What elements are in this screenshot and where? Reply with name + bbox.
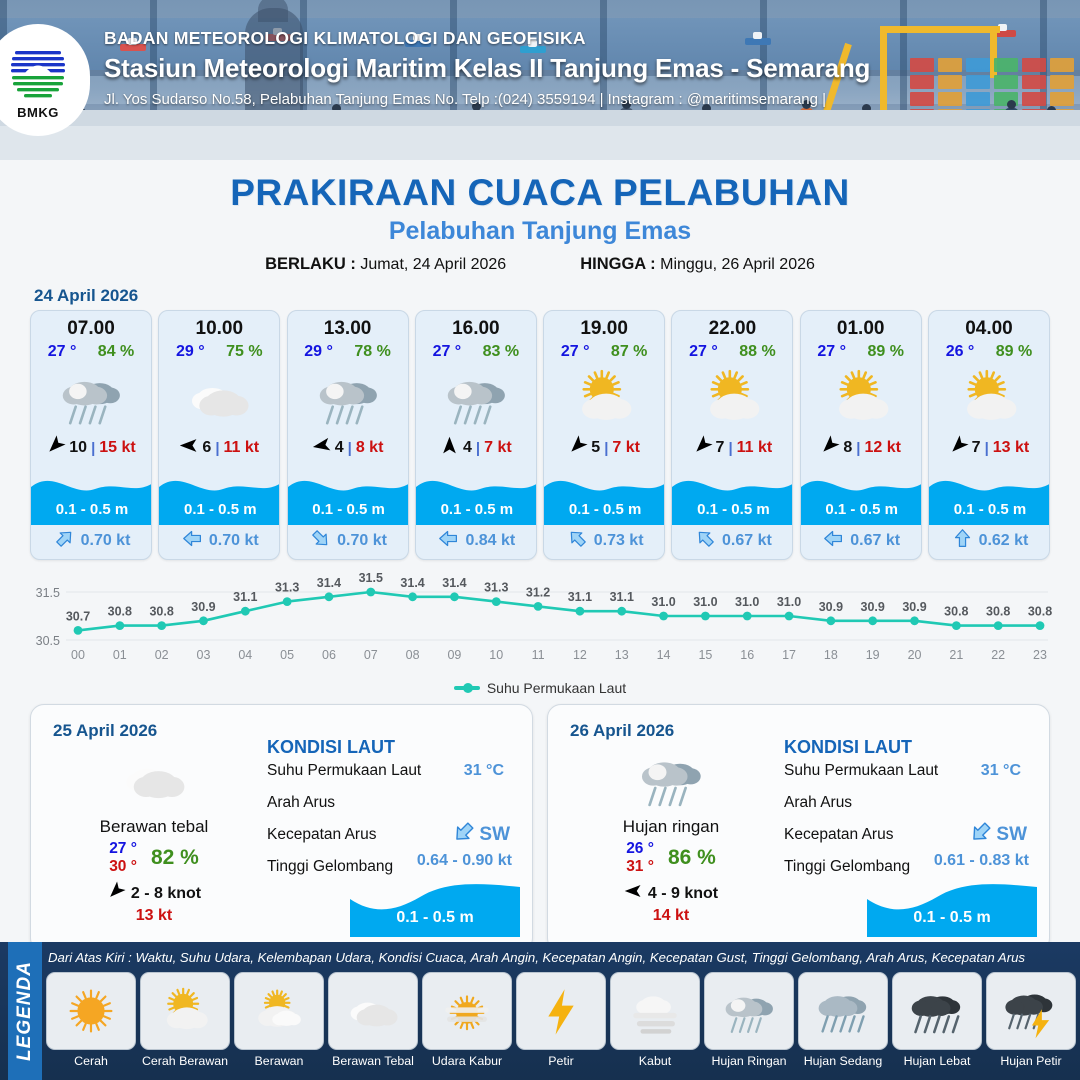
summary-wind-arrow-icon <box>107 882 125 905</box>
svg-text:20: 20 <box>908 648 922 662</box>
card-weather-icon <box>31 362 151 434</box>
svg-text:14: 14 <box>657 648 671 662</box>
card-current-speed: 0.70 kt <box>209 532 259 550</box>
card-wave-height: 0.1 - 0.5 m <box>159 501 280 518</box>
terminal-floor-back <box>0 110 1080 126</box>
card-weather-icon <box>929 362 1049 434</box>
card-wind-speed: 4 <box>463 439 472 457</box>
legend-icon-berawan-tebal <box>328 972 418 1050</box>
svg-text:15: 15 <box>698 648 712 662</box>
card-wave-band: 0.1 - 0.5 m <box>544 471 665 525</box>
legend-item: Hujan Petir <box>986 972 1076 1068</box>
forecast-card: 19.00 27 ° 87 % 5 | 7 kt 0.1 - 0.5 m 0.7… <box>543 310 665 560</box>
card-separator: | <box>348 440 352 457</box>
svg-text:31.3: 31.3 <box>484 581 508 595</box>
legend-item-label: Udara Kabur <box>432 1054 502 1068</box>
summary-temp-max: 31 ° <box>626 858 654 876</box>
hourly-forecast-row: 07.00 27 ° 84 % 10 | 15 kt 0.1 - 0.5 m 0… <box>0 310 1080 560</box>
svg-text:30.8: 30.8 <box>108 605 132 619</box>
svg-text:31.4: 31.4 <box>317 576 341 590</box>
summary-humidity: 82 % <box>151 846 199 870</box>
legend-item: Berawan <box>234 972 324 1068</box>
legend-item-label: Hujan Petir <box>1000 1054 1061 1068</box>
card-current-speed: 0.70 kt <box>81 532 131 550</box>
card-wind-speed: 6 <box>202 439 211 457</box>
card-time: 07.00 <box>31 318 151 340</box>
station-name: Stasiun Meteorologi Maritim Kelas II Tan… <box>104 53 1064 84</box>
svg-text:30.8: 30.8 <box>149 605 173 619</box>
svg-text:31.1: 31.1 <box>610 590 634 604</box>
current-direction-arrow-icon <box>695 528 716 554</box>
svg-text:00: 00 <box>71 648 85 662</box>
card-humidity: 84 % <box>98 343 134 361</box>
current-direction-arrow-icon <box>310 528 331 554</box>
card-gust: 11 kt <box>224 439 260 457</box>
card-humidity: 87 % <box>611 343 647 361</box>
legend-item: Berawan Tebal <box>328 972 418 1068</box>
wind-direction-arrow-icon <box>949 436 968 460</box>
card-separator: | <box>856 440 860 457</box>
summary-date: 26 April 2026 <box>570 721 674 741</box>
card-wave-band: 0.1 - 0.5 m <box>801 471 922 525</box>
forecast-card: 22.00 27 ° 88 % 7 | 11 kt 0.1 - 0.5 m 0.… <box>671 310 793 560</box>
valid-until-value: Minggu, 26 April 2026 <box>660 256 815 273</box>
legend-item-label: Petir <box>548 1054 573 1068</box>
page-title: PRAKIRAAN CUACA PELABUHAN <box>0 172 1080 214</box>
valid-from: BERLAKU : Jumat, 24 April 2026 <box>265 255 506 274</box>
svg-text:16: 16 <box>740 648 754 662</box>
svg-text:18: 18 <box>824 648 838 662</box>
card-gust: 7 kt <box>484 439 512 457</box>
svg-text:22: 22 <box>991 648 1005 662</box>
svg-text:31.5: 31.5 <box>359 571 383 585</box>
summary-humidity: 86 % <box>668 846 716 870</box>
svg-text:30.9: 30.9 <box>902 600 926 614</box>
card-humidity: 78 % <box>354 343 390 361</box>
svg-text:04: 04 <box>238 648 252 662</box>
card-wind-speed: 7 <box>972 439 981 457</box>
card-temperature: 29 ° <box>304 343 333 361</box>
legend-icon-hujan-lebat <box>892 972 982 1050</box>
legend-icon-petir <box>516 972 606 1050</box>
wind-direction-arrow-icon <box>693 436 712 460</box>
forecast-card: 07.00 27 ° 84 % 10 | 15 kt 0.1 - 0.5 m 0… <box>30 310 152 560</box>
legend-side-label: LEGENDA <box>8 942 42 1080</box>
summary-wave-height: 0.1 - 0.5 m <box>867 909 1037 927</box>
summary-wind-arrow-icon <box>624 882 642 905</box>
svg-text:30.8: 30.8 <box>1028 605 1052 619</box>
svg-text:31.4: 31.4 <box>442 576 466 590</box>
card-temperature: 27 ° <box>689 343 718 361</box>
card-time: 04.00 <box>929 318 1049 340</box>
validity-row: BERLAKU : Jumat, 24 April 2026 HINGGA : … <box>0 255 1080 274</box>
daily-summary-row: 25 April 2026 Berawan tebal 27 ° 30 ° 82… <box>0 696 1080 952</box>
page-header: BMKG BADAN METEOROLOGI KLIMATOLOGI DAN G… <box>0 0 1080 160</box>
current-direction-label: Arah Arus <box>267 794 335 811</box>
card-current-speed: 0.67 kt <box>850 532 900 550</box>
svg-text:13: 13 <box>615 648 629 662</box>
legend-item-label: Cerah <box>74 1054 108 1068</box>
card-time: 22.00 <box>672 318 792 340</box>
card-current-row: 0.73 kt <box>544 525 665 557</box>
card-gust: 12 kt <box>865 439 901 457</box>
card-gust: 8 kt <box>356 439 384 457</box>
svg-text:31.0: 31.0 <box>735 595 759 609</box>
card-time: 10.00 <box>159 318 279 340</box>
daily-summary-card: 25 April 2026 Berawan tebal 27 ° 30 ° 82… <box>30 704 533 952</box>
card-humidity: 89 % <box>996 343 1032 361</box>
summary-wave-height: 0.1 - 0.5 m <box>350 909 520 927</box>
wind-direction-arrow-icon <box>179 436 198 460</box>
svg-text:01: 01 <box>113 648 127 662</box>
summary-temp-min: 27 ° <box>109 840 137 858</box>
valid-until: HINGGA : Minggu, 26 April 2026 <box>580 255 815 274</box>
legend-icon-hujan-sedang <box>798 972 888 1050</box>
legend-icon-cerah <box>46 972 136 1050</box>
wind-direction-arrow-icon <box>312 436 331 460</box>
svg-text:31.1: 31.1 <box>233 590 257 604</box>
current-direction-arrow-icon <box>54 528 75 554</box>
card-wind-speed: 7 <box>716 439 725 457</box>
svg-text:10: 10 <box>489 648 503 662</box>
card-wave-band: 0.1 - 0.5 m <box>288 471 409 525</box>
card-weather-icon <box>672 362 792 434</box>
card-time: 01.00 <box>801 318 921 340</box>
card-gust: 13 kt <box>993 439 1029 457</box>
sst-value: 31 °C <box>464 762 504 780</box>
chart-legend: Suhu Permukaan Laut <box>0 680 1080 696</box>
card-humidity: 75 % <box>226 343 262 361</box>
svg-text:31.5: 31.5 <box>36 586 60 600</box>
summary-wind-range: 2 - 8 knot <box>131 885 201 903</box>
svg-text:03: 03 <box>197 648 211 662</box>
current-direction-arrow-icon <box>182 528 203 554</box>
terminal-floor <box>0 126 1080 160</box>
svg-text:09: 09 <box>447 648 461 662</box>
card-wave-height: 0.1 - 0.5 m <box>544 501 665 518</box>
summary-gust: 14 kt <box>562 907 780 925</box>
card-weather-icon <box>416 362 536 434</box>
svg-text:31.3: 31.3 <box>275 581 299 595</box>
card-wave-height: 0.1 - 0.5 m <box>416 501 537 518</box>
legend-icon-udara-kabur <box>422 972 512 1050</box>
card-wave-height: 0.1 - 0.5 m <box>801 501 922 518</box>
current-direction-arrow-icon <box>567 528 588 554</box>
daily-summary-card: 26 April 2026 Hujan ringan 26 ° 31 ° 86 … <box>547 704 1050 952</box>
legend-item: Hujan Sedang <box>798 972 888 1068</box>
svg-text:21: 21 <box>949 648 963 662</box>
svg-text:30.5: 30.5 <box>36 634 60 648</box>
sst-chart: 31.530.530.70030.80130.80230.90331.10431… <box>26 570 1054 682</box>
card-gust: 7 kt <box>612 439 640 457</box>
svg-text:06: 06 <box>322 648 336 662</box>
card-separator: | <box>604 440 608 457</box>
legend-item: Petir <box>516 972 606 1068</box>
card-wave-height: 0.1 - 0.5 m <box>672 501 793 518</box>
forecast-card: 13.00 29 ° 78 % 4 | 8 kt 0.1 - 0.5 m 0.7… <box>287 310 409 560</box>
card-wind-speed: 10 <box>69 439 87 457</box>
card-temperature: 29 ° <box>176 343 205 361</box>
card-time: 16.00 <box>416 318 536 340</box>
svg-text:30.8: 30.8 <box>944 605 968 619</box>
card-current-speed: 0.70 kt <box>337 532 387 550</box>
svg-text:17: 17 <box>782 648 796 662</box>
valid-until-label: HINGGA : <box>580 255 655 273</box>
svg-text:31.2: 31.2 <box>526 585 550 599</box>
card-gust: 15 kt <box>99 439 135 457</box>
summary-condition: Berawan tebal <box>45 817 263 837</box>
card-current-speed: 0.73 kt <box>594 532 644 550</box>
legend-side-text: LEGENDA <box>14 961 36 1061</box>
card-separator: | <box>91 440 95 457</box>
card-current-row: 0.70 kt <box>31 525 152 557</box>
card-humidity: 89 % <box>867 343 903 361</box>
legend-item: Hujan Lebat <box>892 972 982 1068</box>
sea-condition-title: KONDISI LAUT <box>267 737 518 758</box>
card-separator: | <box>476 440 480 457</box>
card-current-speed: 0.84 kt <box>465 532 515 550</box>
card-current-speed: 0.67 kt <box>722 532 772 550</box>
summary-weather-icon <box>562 747 780 811</box>
legend-note: Dari Atas Kiri : Waktu, Suhu Udara, Kele… <box>48 950 1074 965</box>
summary-weather-icon <box>45 747 263 811</box>
card-current-row: 0.70 kt <box>288 525 409 557</box>
legend-icon-berawan <box>234 972 324 1050</box>
bmkg-logo-mark <box>7 41 69 103</box>
summary-wind-range: 4 - 9 knot <box>648 885 718 903</box>
card-current-row: 0.70 kt <box>159 525 280 557</box>
svg-text:30.9: 30.9 <box>819 600 843 614</box>
forecast-card: 10.00 29 ° 75 % 6 | 11 kt 0.1 - 0.5 m 0.… <box>158 310 280 560</box>
legend-item: Cerah <box>46 972 136 1068</box>
chart-legend-marker <box>454 686 480 690</box>
summary-wave-graphic: 0.1 - 0.5 m <box>867 881 1037 937</box>
wind-direction-arrow-icon <box>46 436 65 460</box>
legend-section: LEGENDA Dari Atas Kiri : Waktu, Suhu Uda… <box>0 942 1080 1080</box>
card-wave-band: 0.1 - 0.5 m <box>929 471 1050 525</box>
card-separator: | <box>985 440 989 457</box>
card-temperature: 27 ° <box>817 343 846 361</box>
card-wind-speed: 8 <box>843 439 852 457</box>
legend-item: Udara Kabur <box>422 972 512 1068</box>
card-separator: | <box>728 440 732 457</box>
card-weather-icon <box>159 362 279 434</box>
summary-condition: Hujan ringan <box>562 817 780 837</box>
svg-text:12: 12 <box>573 648 587 662</box>
current-direction-arrow-icon <box>823 528 844 554</box>
card-wave-height: 0.1 - 0.5 m <box>929 501 1050 518</box>
legend-item: Kabut <box>610 972 700 1068</box>
card-wave-band: 0.1 - 0.5 m <box>416 471 537 525</box>
svg-text:05: 05 <box>280 648 294 662</box>
card-humidity: 83 % <box>483 343 519 361</box>
card-temperature: 27 ° <box>561 343 590 361</box>
legend-item-label: Berawan Tebal <box>332 1054 414 1068</box>
card-time: 19.00 <box>544 318 664 340</box>
current-direction-arrow-icon <box>952 528 973 554</box>
wave-height-label: Tinggi Gelombang <box>267 858 393 875</box>
card-current-row: 0.67 kt <box>672 525 793 557</box>
card-weather-icon <box>288 362 408 434</box>
svg-text:11: 11 <box>532 648 545 662</box>
current-direction-label: Arah Arus <box>784 794 852 811</box>
sea-condition-title: KONDISI LAUT <box>784 737 1035 758</box>
card-current-row: 0.62 kt <box>929 525 1050 557</box>
forecast-card: 16.00 27 ° 83 % 4 | 7 kt 0.1 - 0.5 m 0.8… <box>415 310 537 560</box>
forecast-card: 04.00 26 ° 89 % 7 | 13 kt 0.1 - 0.5 m 0.… <box>928 310 1050 560</box>
agency-name: BADAN METEOROLOGI KLIMATOLOGI DAN GEOFIS… <box>104 28 1064 49</box>
summary-date: 25 April 2026 <box>53 721 157 741</box>
chart-legend-label: Suhu Permukaan Laut <box>487 680 626 696</box>
card-gust: 11 kt <box>737 439 773 457</box>
card-temperature: 26 ° <box>946 343 975 361</box>
svg-text:31.1: 31.1 <box>568 590 592 604</box>
svg-text:31.4: 31.4 <box>400 576 424 590</box>
card-temperature: 27 ° <box>48 343 77 361</box>
card-separator: | <box>215 440 219 457</box>
card-wind-speed: 5 <box>591 439 600 457</box>
svg-text:30.9: 30.9 <box>191 600 215 614</box>
sst-label: Suhu Permukaan Laut <box>267 762 421 779</box>
current-speed-label: Kecepatan Arus <box>267 826 376 843</box>
card-humidity: 88 % <box>739 343 775 361</box>
card-wave-band: 0.1 - 0.5 m <box>672 471 793 525</box>
card-current-row: 0.84 kt <box>416 525 537 557</box>
svg-text:30.7: 30.7 <box>66 609 90 623</box>
wind-direction-arrow-icon <box>440 436 459 460</box>
legend-item-label: Hujan Sedang <box>804 1054 883 1068</box>
svg-text:19: 19 <box>866 648 880 662</box>
current-direction-arrow-icon <box>438 528 459 554</box>
summary-wave-graphic: 0.1 - 0.5 m <box>350 881 520 937</box>
legend-icon-hujan-petir <box>986 972 1076 1050</box>
svg-text:31.0: 31.0 <box>693 595 717 609</box>
legend-item-label: Hujan Lebat <box>904 1054 971 1068</box>
card-wave-height: 0.1 - 0.5 m <box>31 501 152 518</box>
svg-text:30.8: 30.8 <box>986 605 1010 619</box>
card-wave-height: 0.1 - 0.5 m <box>288 501 409 518</box>
svg-text:08: 08 <box>406 648 420 662</box>
svg-text:30.9: 30.9 <box>861 600 885 614</box>
legend-item-label: Berawan <box>255 1054 304 1068</box>
sst-label: Suhu Permukaan Laut <box>784 762 938 779</box>
card-current-row: 0.67 kt <box>801 525 922 557</box>
summary-temp-max: 30 ° <box>109 858 137 876</box>
wind-direction-arrow-icon <box>568 436 587 460</box>
legend-item: Cerah Berawan <box>140 972 230 1068</box>
legend-icon-kabut <box>610 972 700 1050</box>
sst-value: 31 °C <box>981 762 1021 780</box>
card-current-speed: 0.62 kt <box>979 532 1029 550</box>
bmkg-logo-text: BMKG <box>17 105 59 120</box>
card-wave-band: 0.1 - 0.5 m <box>159 471 280 525</box>
svg-text:31.0: 31.0 <box>651 595 675 609</box>
current-speed-label: Kecepatan Arus <box>784 826 893 843</box>
card-wind-speed: 4 <box>335 439 344 457</box>
wind-direction-arrow-icon <box>820 436 839 460</box>
legend-items: Cerah Cerah Berawan Berawan Berawan Teba… <box>46 972 1076 1068</box>
forecast-day-label: 24 April 2026 <box>34 286 1080 306</box>
card-wave-band: 0.1 - 0.5 m <box>31 471 152 525</box>
card-time: 13.00 <box>288 318 408 340</box>
card-weather-icon <box>544 362 664 434</box>
forecast-card: 01.00 27 ° 89 % 8 | 12 kt 0.1 - 0.5 m 0.… <box>800 310 922 560</box>
header-text-block: BADAN METEOROLOGI KLIMATOLOGI DAN GEOFIS… <box>104 28 1064 108</box>
card-temperature: 27 ° <box>433 343 462 361</box>
wave-height-label: Tinggi Gelombang <box>784 858 910 875</box>
svg-text:31.0: 31.0 <box>777 595 801 609</box>
valid-from-value: Jumat, 24 April 2026 <box>360 256 506 273</box>
legend-item-label: Kabut <box>639 1054 671 1068</box>
legend-item-label: Cerah Berawan <box>142 1054 228 1068</box>
legend-item-label: Hujan Ringan <box>711 1054 786 1068</box>
valid-from-label: BERLAKU : <box>265 255 356 273</box>
summary-gust: 13 kt <box>45 907 263 925</box>
station-address: Jl. Yos Sudarso No.58, Pelabuhan Tanjung… <box>104 91 1064 108</box>
svg-text:02: 02 <box>155 648 169 662</box>
summary-temp-min: 26 ° <box>626 840 654 858</box>
page-subtitle: Pelabuhan Tanjung Emas <box>0 217 1080 246</box>
legend-icon-cerah-berawan <box>140 972 230 1050</box>
svg-text:23: 23 <box>1033 648 1047 662</box>
legend-item: Hujan Ringan <box>704 972 794 1068</box>
svg-text:07: 07 <box>364 648 378 662</box>
legend-icon-hujan-ringan <box>704 972 794 1050</box>
card-weather-icon <box>801 362 921 434</box>
